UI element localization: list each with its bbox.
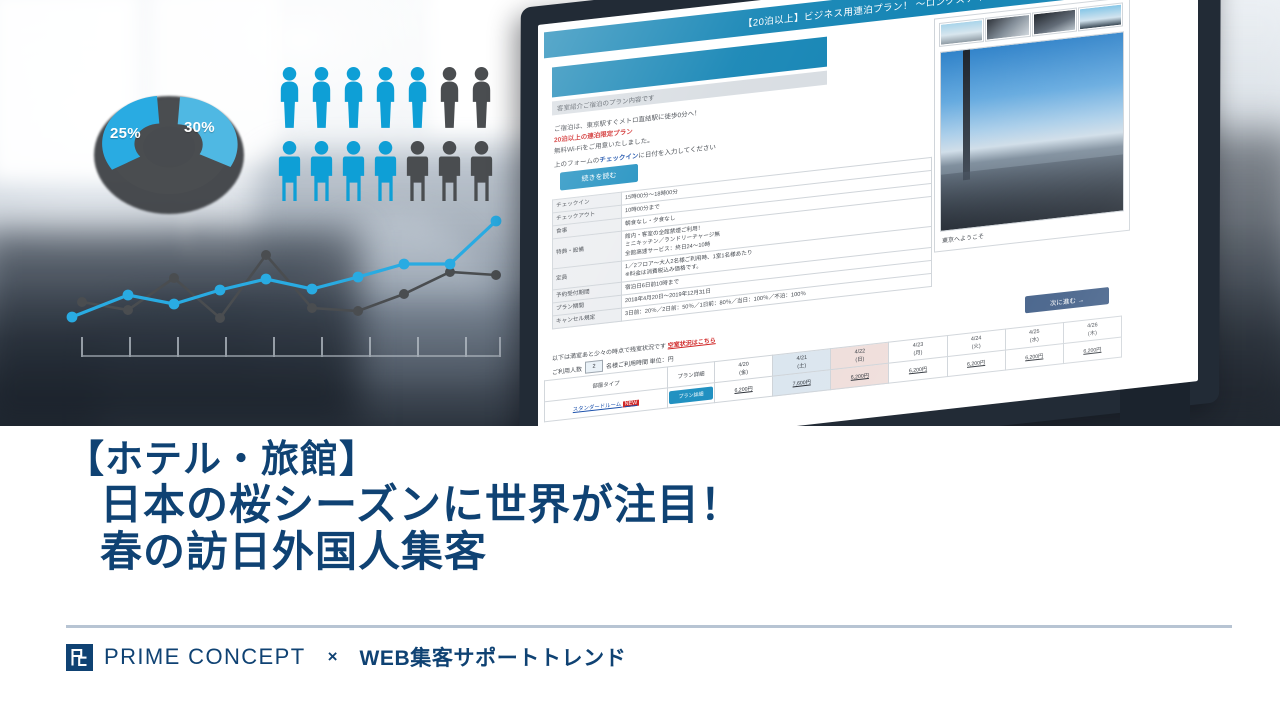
browser-page: 【20泊以上】ビジネス用連泊プラン！ ～ロングステイ～ 客室紹介ご宿泊のプラン内… [538,0,1198,426]
female-figure-icon-muted [435,66,464,128]
headline-line-2: 日本の桜シーズンに世界が注目！ [100,481,1226,528]
donut-label-25: 25% [110,125,141,142]
female-figure-icon-muted [467,66,496,128]
male-figure-icon [275,140,304,202]
male-figure-icon-muted [435,140,464,202]
headline-block: 【ホテル・旅館】 日本の桜シーズンに世界が注目！ 春の訪日外国人集客 [66,440,1226,575]
donut-chart: 25% 30% [86,72,256,217]
checkin-link[interactable]: チェックイン [599,153,638,164]
body-line-4-suffix: に日付を入力してください [638,144,716,160]
date-day: (火) [972,343,981,350]
female-figure-icon [307,66,336,128]
divider [66,625,1232,628]
room-badge: NEW [623,399,640,407]
price-value: 6,200円 [1025,353,1043,361]
date-value: 4/24 [971,335,982,342]
date-day: (日) [855,356,864,363]
female-figure-icon [275,66,304,128]
main-photo [940,31,1124,232]
headline-line-3: 春の訪日外国人集客 [100,528,1226,575]
slide-root: 25% 30% [0,0,1280,720]
date-day: (土) [797,363,806,370]
room-name: スタンダードルーム [573,401,621,412]
price-value: 6,200円 [1083,347,1101,355]
people-selector-input[interactable]: 2 [585,360,603,374]
laptop-screen: 【20泊以上】ビジネス用連泊プラン！ ～ロングステイ～ 客室紹介ご宿泊のプラン内… [538,0,1198,426]
headline-line-1: 【ホテル・旅館】 [66,440,1226,481]
donut-label-30: 30% [184,119,215,136]
price-value: 6,200円 [967,360,985,368]
people-selector-label: ご利用人数 [552,364,582,376]
plan-detail-cell[interactable]: プラン詳細 [668,383,715,408]
date-value: 4/21 [796,355,807,362]
brand-name: PRIME CONCEPT [104,644,306,670]
male-figure-icon [307,140,336,202]
female-figure-icon [339,66,368,128]
separator-icon: × [328,647,338,667]
price-value: 6,200円 [851,373,869,381]
donut-graphic [94,88,244,206]
price-value: 7,600円 [793,379,811,387]
date-value: 4/22 [855,348,866,355]
female-figure-icon [371,66,400,128]
availability-note-link[interactable]: 空室状況はこちら [668,338,716,349]
male-figure-icon [371,140,400,202]
pictogram-row-male [275,140,496,202]
date-day: (金) [739,369,748,376]
next-step-button[interactable]: 次に進む → [1025,287,1109,313]
price-value: 6,200円 [909,366,927,374]
date-value: 4/20 [738,361,749,368]
date-day: (月) [914,350,923,357]
read-more-button[interactable]: 続きを読む [560,164,638,191]
date-day: (水) [1030,337,1039,344]
axis-ticks [82,337,500,357]
pictogram-row-female [275,66,496,128]
tower-silhouette [963,50,970,181]
plan-detail-button[interactable]: プラン詳細 [669,386,713,404]
date-value: 4/23 [913,342,924,349]
date-day: (木) [1088,330,1097,337]
text-panel: 【ホテル・旅館】 日本の桜シーズンに世界が注目！ 春の訪日外国人集客 PRIME… [0,426,1280,720]
series-gray-markers [77,250,501,323]
tagline: WEB集客サポートトレンド [360,642,627,672]
male-figure-icon [339,140,368,202]
hero-image: 25% 30% [0,0,1280,426]
laptop-mockup: 【20泊以上】ビジネス用連泊プラン！ ～ロングステイ～ 客室紹介ご宿泊のプラン内… [520,0,1280,426]
line-chart [60,205,520,365]
female-figure-icon [403,66,432,128]
male-figure-icon-muted [467,140,496,202]
people-pictogram-chart [275,66,505,202]
date-value: 4/25 [1029,329,1040,336]
male-figure-icon-muted [403,140,432,202]
series-cyan-line [72,221,496,317]
body-line-4-prefix: 上のフォームの [554,157,599,169]
date-value: 4/26 [1087,322,1098,329]
prime-concept-logo-icon [66,644,93,671]
price-value: 6,200円 [734,386,752,394]
footer-brand-bar: PRIME CONCEPT × WEB集客サポートトレンド [66,642,626,672]
